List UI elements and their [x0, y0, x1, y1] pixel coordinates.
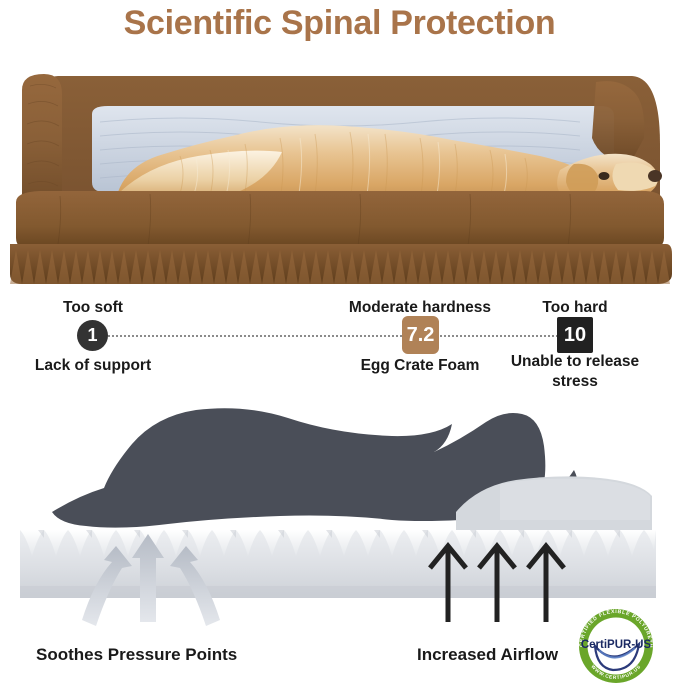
hardness-scale: Too soft 1 Lack of support Moderate hard… — [0, 290, 679, 390]
page-title: Scientific Spinal Protection — [0, 0, 679, 52]
scale-label-too-hard: Too hard — [515, 298, 635, 317]
scale-label-moderate-hardness: Moderate hardness — [330, 298, 510, 317]
caption-increased-airflow: Increased Airflow — [417, 645, 558, 665]
certipur-brand-text: CertiPUR-US — [581, 639, 652, 651]
scale-badge-10: 10 — [557, 317, 593, 353]
scale-label-too-soft: Too soft — [33, 298, 153, 317]
product-photo — [0, 52, 679, 286]
scale-label-egg-crate-foam: Egg Crate Foam — [340, 356, 500, 375]
caption-soothes-pressure-points: Soothes Pressure Points — [36, 645, 237, 665]
scale-label-unable-to-release-stress: Unable to release stress — [505, 352, 645, 392]
certipur-us-logo: CONTAINS CERTIFIED FLEXIBLE POLYURETHANE… — [569, 600, 663, 688]
scale-badge-1: 1 — [77, 320, 108, 351]
scale-badge-7-2: 7.2 — [402, 316, 439, 354]
scale-dotted-line — [93, 335, 577, 337]
scale-label-lack-of-support: Lack of support — [13, 356, 173, 375]
